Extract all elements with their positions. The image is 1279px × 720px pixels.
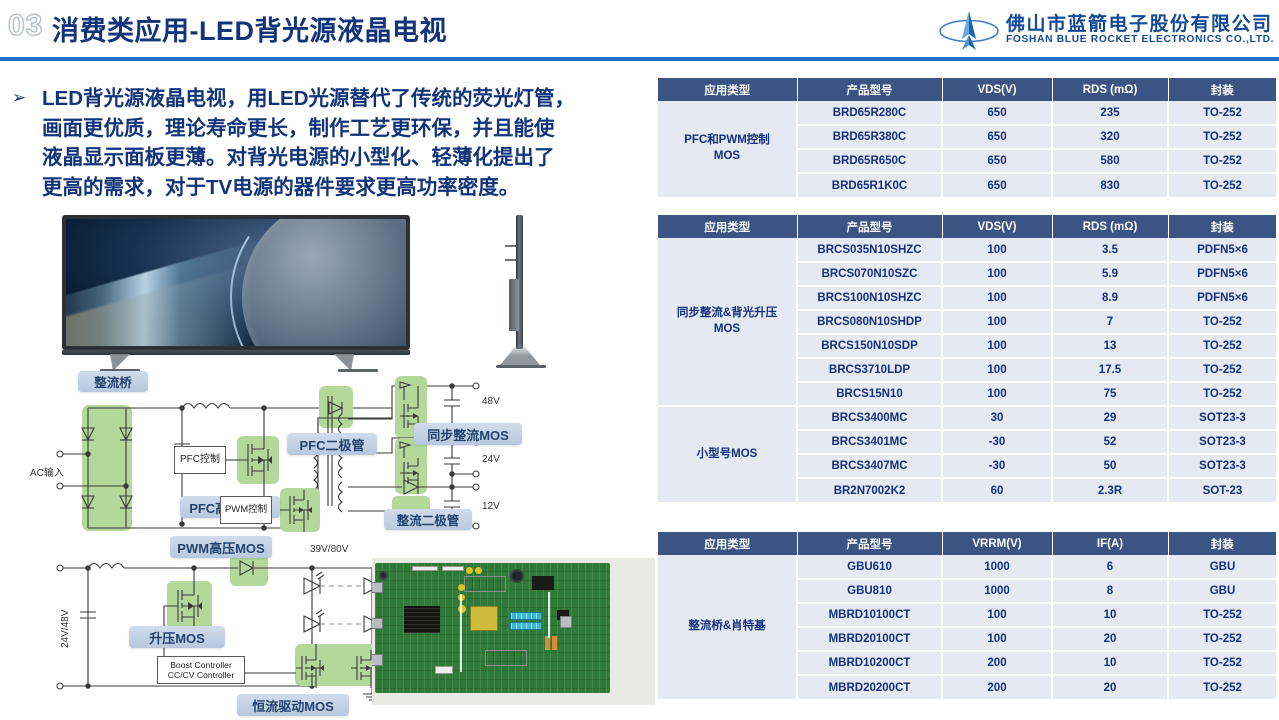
cell-package: SOT23-3 bbox=[1168, 406, 1276, 430]
pcb-trace-1 bbox=[460, 594, 462, 672]
cell-product-model: MBRD10200CT bbox=[797, 651, 942, 675]
cell-param-1: 100 bbox=[942, 334, 1052, 358]
label-pwm-hv-mos: PWM高压MOS bbox=[170, 536, 272, 558]
cell-product-model: BR2N7002K2 bbox=[797, 478, 942, 502]
cell-package: GBU bbox=[1168, 555, 1276, 579]
cell-param-1: 100 bbox=[942, 627, 1052, 651]
company-logo: 佛山市蓝箭电子股份有限公司 FOSHAN BLUE ROCKET ELECTRO… bbox=[938, 7, 1273, 53]
cell-param-1: 100 bbox=[942, 603, 1052, 627]
bridge-schottky-table: 应用类型 产品型号 VRRM(V) IF(A) 封装 整流桥&肖特基GBU610… bbox=[658, 532, 1276, 699]
cell-product-model: BRCS15N10 bbox=[797, 382, 942, 406]
cell-product-model: MBRD10100CT bbox=[797, 603, 942, 627]
cell-package: TO-252 bbox=[1168, 675, 1276, 699]
cell-product-model: BRCS3407MC bbox=[797, 454, 942, 478]
cell-package: TO-252 bbox=[1168, 101, 1276, 125]
col-rds: RDS (mΩ) bbox=[1052, 215, 1168, 238]
col-package: 封装 bbox=[1168, 532, 1276, 555]
cell-param-1: 100 bbox=[942, 358, 1052, 382]
cell-param-1: 200 bbox=[942, 651, 1052, 675]
cell-param-1: 60 bbox=[942, 478, 1052, 502]
pcb-cyan-cap-1 bbox=[510, 612, 542, 620]
table-header-row: 应用类型 产品型号 VDS(V) RDS (mΩ) 封装 bbox=[658, 78, 1276, 101]
cell-product-model: BRD65R1K0C bbox=[797, 173, 942, 197]
col-package: 封装 bbox=[1168, 78, 1276, 101]
cell-product-model: BRD65R280C bbox=[797, 101, 942, 125]
text-24v-48v: 24V/48V bbox=[60, 610, 71, 648]
slide-root: 03 消费类应用-LED背光源液晶电视 佛山市蓝箭电子股份有限公司 FOSHAN… bbox=[0, 0, 1279, 720]
pcb-inductor-2 bbox=[552, 636, 557, 650]
pfc-pwm-table: 应用类型 产品型号 VDS(V) RDS (mΩ) 封装 PFC和PWM控制MO… bbox=[658, 78, 1276, 197]
cell-param-2: 8 bbox=[1052, 579, 1168, 603]
body-line-4: 更高的需求，对于TV电源的器件要求更高功率密度。 bbox=[42, 173, 662, 203]
cell-application-type: 同步整流&背光升压MOS bbox=[658, 238, 797, 406]
col-product-model: 产品型号 bbox=[797, 78, 942, 101]
cell-param-2: 7 bbox=[1052, 310, 1168, 334]
cell-package: TO-252 bbox=[1168, 334, 1276, 358]
cell-param-2: 10 bbox=[1052, 651, 1168, 675]
text-39v-80v: 39V/80V bbox=[310, 544, 348, 555]
text-12v: 12V bbox=[482, 501, 500, 512]
cell-param-1: 100 bbox=[942, 286, 1052, 310]
col-package: 封装 bbox=[1168, 215, 1276, 238]
cell-package: TO-252 bbox=[1168, 173, 1276, 197]
pcb-connector-cap bbox=[379, 571, 388, 580]
cell-param-2: 5.9 bbox=[1052, 262, 1168, 286]
cell-param-2: 10 bbox=[1052, 603, 1168, 627]
pcb-trace-2 bbox=[548, 592, 550, 638]
cell-package: SOT-23 bbox=[1168, 478, 1276, 502]
cell-product-model: BRCS070N10SZC bbox=[797, 262, 942, 286]
pcb-yellow-cap-3 bbox=[458, 584, 465, 591]
cell-param-2: 52 bbox=[1052, 430, 1168, 454]
tv-base-right bbox=[338, 369, 378, 372]
body-paragraph: LED背光源液晶电视，用LED光源替代了传统的荧光灯管， 画面更优质，理论寿命更… bbox=[42, 84, 662, 203]
table-row: 同步整流&背光升压MOSBRCS035N10SHZC1003.5PDFN5×6 bbox=[658, 238, 1276, 262]
tv-side-base bbox=[496, 365, 546, 368]
pcb-heatsink-bottom bbox=[485, 650, 527, 666]
cell-param-1: 100 bbox=[942, 382, 1052, 406]
cell-product-model: BRCS035N10SHZC bbox=[797, 238, 942, 262]
cell-param-1: 100 bbox=[942, 310, 1052, 334]
cell-param-1: -30 bbox=[942, 430, 1052, 454]
text-48v: 48V bbox=[482, 396, 500, 407]
col-vds: VDS(V) bbox=[942, 78, 1052, 101]
cell-product-model: BRCS150N10SDP bbox=[797, 334, 942, 358]
pcb-label-sticker bbox=[435, 666, 453, 674]
col-vrrm: VRRM(V) bbox=[942, 532, 1052, 555]
cell-product-model: BRD65R650C bbox=[797, 149, 942, 173]
cell-param-2: 13 bbox=[1052, 334, 1168, 358]
cell-package: TO-252 bbox=[1168, 310, 1276, 334]
table-header-row: 应用类型 产品型号 VDS(V) RDS (mΩ) 封装 bbox=[658, 215, 1276, 238]
col-if: IF(A) bbox=[1052, 532, 1168, 555]
col-application-type: 应用类型 bbox=[658, 78, 797, 101]
boost-controller-line-1: Boost Controller bbox=[170, 660, 232, 670]
cell-product-model: GBU610 bbox=[797, 555, 942, 579]
tv-product-photo bbox=[52, 212, 588, 372]
cell-param-2: 235 bbox=[1052, 101, 1168, 125]
table-row: 整流桥&肖特基GBU61010006GBU bbox=[658, 555, 1276, 579]
table-row: 小型号MOSBRCS3400MC3029SOT23-3 bbox=[658, 406, 1276, 430]
cell-param-2: 3.5 bbox=[1052, 238, 1168, 262]
pcb-ic-1 bbox=[532, 576, 554, 590]
pcb-heatsink-top bbox=[464, 576, 506, 592]
col-rds: RDS (mΩ) bbox=[1052, 78, 1168, 101]
cell-param-2: 75 bbox=[1052, 382, 1168, 406]
pcb-port-hdmi-3 bbox=[372, 654, 383, 666]
cell-param-1: 100 bbox=[942, 238, 1052, 262]
cell-param-1: -30 bbox=[942, 454, 1052, 478]
box-pwm-control: PWM控制 bbox=[220, 496, 272, 524]
cell-product-model: BRCS3401MC bbox=[797, 430, 942, 454]
page-title: 消费类应用-LED背光源液晶电视 bbox=[52, 9, 447, 48]
col-application-type: 应用类型 bbox=[658, 532, 797, 555]
label-rect-diode: 整流二极管 bbox=[384, 509, 472, 530]
cell-package: TO-252 bbox=[1168, 125, 1276, 149]
cell-product-model: BRCS3710LDP bbox=[797, 358, 942, 382]
logo-company-name-cn: 佛山市蓝箭电子股份有限公司 bbox=[1006, 9, 1273, 36]
col-application-type: 应用类型 bbox=[658, 215, 797, 238]
cell-package: TO-252 bbox=[1168, 149, 1276, 173]
cell-package: PDFN5×6 bbox=[1168, 238, 1276, 262]
cell-param-1: 650 bbox=[942, 125, 1052, 149]
cell-param-2: 320 bbox=[1052, 125, 1168, 149]
pcb-port-side bbox=[560, 616, 572, 628]
table-body: 同步整流&背光升压MOSBRCS035N10SHZC1003.5PDFN5×6B… bbox=[658, 238, 1276, 502]
pcb-heatsink-cpu bbox=[404, 606, 440, 633]
cell-package: TO-252 bbox=[1168, 627, 1276, 651]
label-sync-rect-mos: 同步整流MOS bbox=[414, 423, 522, 445]
cell-param-2: 830 bbox=[1052, 173, 1168, 197]
logo-company-name-en: FOSHAN BLUE ROCKET ELECTRONICS CO.,LTD. bbox=[1006, 34, 1274, 45]
cell-param-2: 20 bbox=[1052, 675, 1168, 699]
body-line-2: 画面更优质，理论寿命更长，制作工艺更环保，并且能使 bbox=[42, 114, 662, 144]
cell-package: TO-252 bbox=[1168, 603, 1276, 627]
tv-side-view bbox=[492, 215, 552, 372]
col-vds: VDS(V) bbox=[942, 215, 1052, 238]
pcb-connector-top-1 bbox=[412, 566, 438, 571]
bullet-arrow-icon: ➢ bbox=[12, 88, 26, 108]
cell-param-1: 100 bbox=[942, 262, 1052, 286]
text-24v: 24V bbox=[482, 454, 500, 465]
cell-package: PDFN5×6 bbox=[1168, 286, 1276, 310]
cell-product-model: BRCS100N10SHZC bbox=[797, 286, 942, 310]
cell-param-1: 650 bbox=[942, 173, 1052, 197]
cell-product-model: GBU810 bbox=[797, 579, 942, 603]
cell-application-type: 小型号MOS bbox=[658, 406, 797, 502]
tv-side-port-2 bbox=[505, 259, 516, 261]
cell-package: GBU bbox=[1168, 579, 1276, 603]
cell-package: SOT23-3 bbox=[1168, 454, 1276, 478]
cell-param-1: 30 bbox=[942, 406, 1052, 430]
section-number: 03 bbox=[8, 9, 43, 43]
cell-param-1: 1000 bbox=[942, 555, 1052, 579]
cell-param-2: 29 bbox=[1052, 406, 1168, 430]
table-row: PFC和PWM控制MOSBRD65R280C650235TO-252 bbox=[658, 101, 1276, 125]
box-pfc-control: PFC控制 bbox=[174, 446, 226, 474]
table-header-row: 应用类型 产品型号 VRRM(V) IF(A) 封装 bbox=[658, 532, 1276, 555]
cell-param-2: 17.5 bbox=[1052, 358, 1168, 382]
cell-param-1: 650 bbox=[942, 149, 1052, 173]
tv-side-stand bbox=[500, 343, 540, 365]
pcb-yellow-cap-1 bbox=[466, 567, 473, 574]
cell-application-type: 整流桥&肖特基 bbox=[658, 555, 797, 699]
pcb-cyan-cap-2 bbox=[510, 622, 542, 630]
pcb-connector-top-2 bbox=[442, 566, 464, 571]
box-boost-controller: Boost Controller CC/CV Controller bbox=[157, 656, 245, 684]
cell-package: SOT23-3 bbox=[1168, 430, 1276, 454]
cell-product-model: BRD65R380C bbox=[797, 125, 942, 149]
body-line-1: LED背光源液晶电视，用LED光源替代了传统的荧光灯管， bbox=[42, 84, 662, 114]
cell-param-1: 1000 bbox=[942, 579, 1052, 603]
cell-param-2: 50 bbox=[1052, 454, 1168, 478]
cell-product-model: MBRD20100CT bbox=[797, 627, 942, 651]
body-line-3: 液晶显示面板更薄。对背光电源的小型化、轻薄化提出了 bbox=[42, 143, 662, 173]
cell-product-model: BRCS3400MC bbox=[797, 406, 942, 430]
cell-param-2: 6 bbox=[1052, 555, 1168, 579]
cell-package: PDFN5×6 bbox=[1168, 262, 1276, 286]
cell-param-2: 8.9 bbox=[1052, 286, 1168, 310]
table-body: PFC和PWM控制MOSBRD65R280C650235TO-252BRD65R… bbox=[658, 101, 1276, 197]
pcb-yellow-cap-2 bbox=[475, 567, 482, 574]
pcb-port-hdmi-1 bbox=[372, 582, 383, 593]
label-boost-mos: 升压MOS bbox=[129, 626, 225, 648]
sync-rect-table: 应用类型 产品型号 VDS(V) RDS (mΩ) 封装 同步整流&背光升压MO… bbox=[658, 215, 1276, 502]
cell-package: TO-252 bbox=[1168, 651, 1276, 675]
pcb-electrolytic-cap bbox=[510, 569, 524, 583]
cell-param-2: 20 bbox=[1052, 627, 1168, 651]
cell-product-model: BRCS080N10SHDP bbox=[797, 310, 942, 334]
col-product-model: 产品型号 bbox=[797, 215, 942, 238]
cell-package: TO-252 bbox=[1168, 358, 1276, 382]
label-cc-drive-mos: 恒流驱动MOS bbox=[237, 694, 349, 716]
rocket-logo-icon bbox=[938, 9, 1000, 51]
tv-side-module bbox=[509, 279, 519, 331]
pcb-transformer bbox=[470, 606, 498, 631]
header-divider bbox=[0, 57, 1279, 61]
label-pfc-diode: PFC二极管 bbox=[287, 433, 377, 455]
cell-param-2: 2.3R bbox=[1052, 478, 1168, 502]
cell-product-model: MBRD20200CT bbox=[797, 675, 942, 699]
col-product-model: 产品型号 bbox=[797, 532, 942, 555]
tv-side-port-1 bbox=[505, 245, 516, 247]
table-body: 整流桥&肖特基GBU61010006GBUGBU81010008GBUMBRD1… bbox=[658, 555, 1276, 699]
cell-param-2: 580 bbox=[1052, 149, 1168, 173]
tv-mainboard-photo bbox=[372, 558, 655, 705]
tv-front-view bbox=[62, 215, 410, 350]
cell-param-1: 200 bbox=[942, 675, 1052, 699]
pcb-inductor-1 bbox=[545, 636, 550, 650]
text-ac-input: AC输入 bbox=[30, 464, 64, 479]
boost-controller-line-2: CC/CV Controller bbox=[168, 670, 234, 680]
pcb-port-hdmi-2 bbox=[372, 618, 383, 629]
cell-application-type: PFC和PWM控制MOS bbox=[658, 101, 797, 197]
label-rectifier-bridge: 整流桥 bbox=[78, 371, 148, 392]
cell-package: TO-252 bbox=[1168, 382, 1276, 406]
cell-param-1: 650 bbox=[942, 101, 1052, 125]
